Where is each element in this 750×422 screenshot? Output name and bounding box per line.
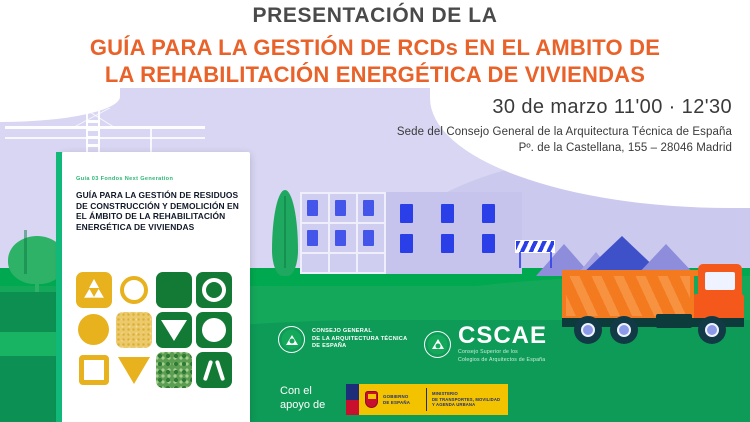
ministry-text: MINISTERIO DE TRANSPORTES, MOVILIDAD Y A… <box>432 391 504 407</box>
barrier-leg-right <box>550 252 552 268</box>
gob-text: GOBIERNO DE ESPAÑA <box>383 394 421 405</box>
gob-flag-bar <box>346 384 359 415</box>
support-line1: Con el <box>280 384 325 398</box>
chevron-up-icon <box>196 352 232 388</box>
ring-outline-icon <box>116 272 152 308</box>
event-datetime: 30 de marzo 11'00 · 12'30 <box>492 96 732 119</box>
support-label: Con el apoyo de <box>280 384 325 412</box>
cover-title: GUÍA PARA LA GESTIÓN DE RESIDUOS DE CONS… <box>76 190 242 232</box>
sand-texture-icon <box>116 312 152 348</box>
cscae-wordmark: CSCAE <box>458 324 547 348</box>
cgate-text: CONSEJO GENERAL DE LA ARQUITECTURA TÉCNI… <box>312 328 407 350</box>
gob-line2: DE ESPAÑA <box>383 400 421 406</box>
down-triangle-icon <box>116 352 152 388</box>
road-barrier-icon <box>515 240 555 253</box>
down-triangle-icon <box>156 312 192 348</box>
logo-consejo-general: CONSEJO GENERAL DE LA ARQUITECTURA TÉCNI… <box>278 326 407 353</box>
support-line2: apoyo de <box>280 398 325 412</box>
cypress-midrib <box>284 196 286 268</box>
kicker-text: PRESENTACIÓN DE LA <box>0 4 750 28</box>
cover-kicker: Guía 03 Fondos Next Generation <box>76 176 236 182</box>
guide-cover: Guía 03 Fondos Next Generation GUÍA PARA… <box>62 152 250 422</box>
cgate-seal-icon <box>278 326 305 353</box>
ring-outline-icon <box>196 272 232 308</box>
dump-truck-icon <box>562 236 748 332</box>
filled-circle-icon <box>76 312 112 348</box>
gob-divider <box>426 388 427 411</box>
coat-of-arms-icon <box>359 384 383 415</box>
filled-square-icon <box>156 272 192 308</box>
cgate-line1: CONSEJO GENERAL <box>312 328 407 335</box>
recycling-icon <box>76 272 112 308</box>
event-poster: PRESENTACIÓN DE LA GUÍA PARA LA GESTIÓN … <box>0 0 750 422</box>
venue-line1: Sede del Consejo General de la Arquitect… <box>397 124 732 140</box>
cover-spine <box>56 152 62 422</box>
cgate-line3: DE ESPAÑA <box>312 343 407 350</box>
ministry-line3: Y AGENDA URBANA <box>432 402 504 407</box>
cscae-seal-icon <box>424 331 451 358</box>
square-outline-icon <box>76 352 112 388</box>
cscae-sub-line1: Consejo Superior de los <box>458 349 547 356</box>
logo-gobierno-de-espana: GOBIERNO DE ESPAÑA MINISTERIO DE TRANSPO… <box>346 384 508 415</box>
tree-trunk <box>24 230 27 274</box>
venue-line2: Pº. de la Castellana, 155 – 28046 Madrid <box>397 140 732 156</box>
event-venue: Sede del Consejo General de la Arquitect… <box>397 124 732 156</box>
cscae-sub-line2: Colegios de Arquitectos de España <box>458 357 547 364</box>
cover-icon-grid <box>76 272 236 388</box>
page-title-line1: GUÍA PARA LA GESTIÓN DE RCDs EN EL AMBIT… <box>0 34 750 61</box>
barrier-leg-left <box>519 252 521 268</box>
filled-circle-icon <box>196 312 232 348</box>
page-title-line2: LA REHABILITACIÓN ENERGÉTICA DE VIVIENDA… <box>0 61 750 88</box>
cscae-text: CSCAE Consejo Superior de los Colegios d… <box>458 324 547 364</box>
rubble-texture-icon <box>156 352 192 388</box>
page-title: GUÍA PARA LA GESTIÓN DE RCDs EN EL AMBIT… <box>0 34 750 88</box>
logo-cscae: CSCAE Consejo Superior de los Colegios d… <box>424 324 547 364</box>
